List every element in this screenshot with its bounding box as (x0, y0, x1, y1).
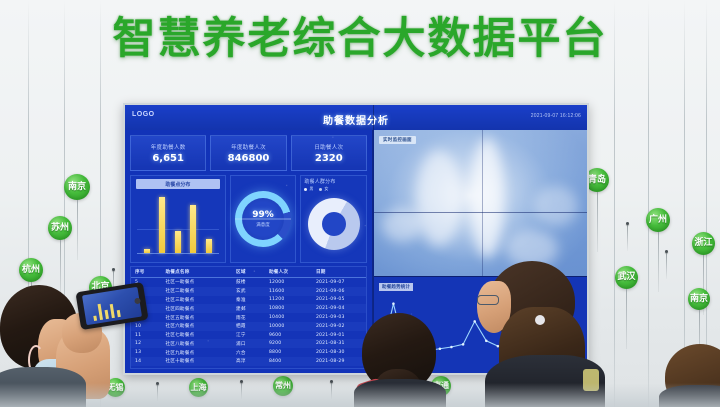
table-cell: 9200 (265, 339, 312, 348)
table-header-date: 日期 (312, 267, 366, 278)
wall-pin (665, 250, 668, 253)
table-cell: 10800 (265, 304, 312, 313)
city-badge-label: 苏州 (48, 216, 72, 240)
legend-label: 男 (309, 186, 313, 192)
table-cell: 高淳 (232, 357, 265, 366)
wall-pin (626, 222, 629, 225)
donut-hole (322, 212, 346, 236)
city-badge-suzhou[interactable]: 苏州 (48, 216, 72, 240)
kpi-row: 年度助餐人数 6,651 年度助餐人次 846800 日助餐人次 2320 (130, 135, 367, 171)
bar-item (175, 231, 181, 253)
hair-clip (535, 315, 545, 325)
table-cell: 江宁 (232, 331, 265, 340)
legend-label: 女 (324, 186, 328, 192)
bar-item (206, 239, 212, 253)
kpi-value: 846800 (228, 153, 270, 164)
table-cell: 10000 (265, 322, 312, 331)
city-badge-nanjing-2[interactable]: 南京 (688, 288, 710, 310)
bar-chart-search-label: 助餐点分布 (165, 181, 190, 188)
table-cell: 鼓楼 (232, 278, 265, 287)
city-badge-label: 广州 (646, 208, 670, 232)
dashboard-clock: 2021-09-07 16:12:06 (531, 113, 581, 119)
city-badge-nanjing[interactable]: 南京 (64, 174, 90, 200)
charts-row: 助餐点分布 99% 满意度 (130, 175, 367, 263)
city-badge-label: 南京 (688, 288, 710, 310)
table-header-region: 区域 (232, 267, 265, 278)
table-cell: 11200 (265, 296, 312, 305)
legend-item-female: 女 (319, 186, 328, 192)
kpi-label: 日助餐人次 (314, 143, 343, 151)
legend-color-swatch (304, 188, 307, 191)
gauge-chart-panel[interactable]: 99% 满意度 (230, 175, 297, 263)
table-cell: 浦口 (232, 339, 265, 348)
gauge-divider (235, 219, 291, 220)
camera-feed-label: 实时监控画面 (379, 136, 416, 144)
bar-item (159, 197, 165, 253)
legend-color-swatch (319, 188, 322, 191)
city-badge-label: 南京 (64, 174, 90, 200)
dashboard-header: LOGO 助餐数据分析 2021-09-07 16:12:06 (125, 105, 587, 130)
eyeglasses (477, 295, 499, 305)
table-cell: 9600 (265, 331, 312, 340)
kpi-value: 6,651 (152, 153, 184, 164)
donut-chart-title: 助餐人群分布 (304, 178, 335, 185)
kpi-card-annual-visits[interactable]: 年度助餐人次 846800 (210, 135, 286, 171)
table-cell: 建邺 (232, 304, 265, 313)
kpi-label: 年度助餐人次 (231, 143, 266, 151)
gauge-label: 满意度 (256, 222, 270, 228)
bar-item (190, 205, 196, 253)
table-cell: 雨花 (232, 313, 265, 322)
table-cell: 10400 (265, 313, 312, 322)
city-badge-guangzhou[interactable]: 广州 (646, 208, 670, 232)
city-badge-zhejiang[interactable]: 浙江 (692, 232, 715, 255)
kpi-label: 年度助餐人数 (151, 143, 186, 151)
table-cell: 2021-09-07 (312, 278, 366, 287)
badge-stem (658, 232, 659, 292)
table-header-visits: 助餐人次 (265, 267, 312, 278)
donut-ring (308, 198, 360, 250)
kpi-card-annual-people[interactable]: 年度助餐人数 6,651 (130, 135, 206, 171)
legend-item-male: 男 (304, 186, 313, 192)
table-cell: 六合 (232, 348, 265, 357)
dashboard-title: 助餐数据分析 (125, 112, 587, 127)
badge-stem (597, 192, 598, 252)
bar-chart-bars (139, 193, 217, 253)
city-badge-label: 浙江 (692, 232, 715, 255)
phone-screen (82, 287, 142, 325)
bar-chart-axis (137, 253, 219, 254)
donut-chart-legend: 男 女 (304, 186, 328, 192)
floor-shadow (0, 383, 720, 407)
table-cell: 秦淮 (232, 296, 265, 305)
kpi-value: 2320 (315, 153, 343, 164)
table-cell: 8800 (265, 348, 312, 357)
table-cell: 12000 (265, 278, 312, 287)
table-cell: 栖霞 (232, 322, 265, 331)
badge-stem (77, 200, 78, 260)
bar-chart-search-field[interactable]: 助餐点分布 (136, 179, 220, 189)
smartphone (75, 282, 148, 330)
camera-tile-seam (374, 212, 587, 213)
table-cell: 11600 (265, 287, 312, 296)
page-title: 智慧养老综合大数据平台 (0, 4, 720, 66)
table-cell: 8400 (265, 357, 312, 366)
bar-chart-panel[interactable]: 助餐点分布 (130, 175, 226, 263)
table-cell: 玄武 (232, 287, 265, 296)
donut-chart-panel[interactable]: 助餐人群分布 男 女 (300, 175, 367, 263)
kpi-card-daily-visits[interactable]: 日助餐人次 2320 (291, 135, 367, 171)
